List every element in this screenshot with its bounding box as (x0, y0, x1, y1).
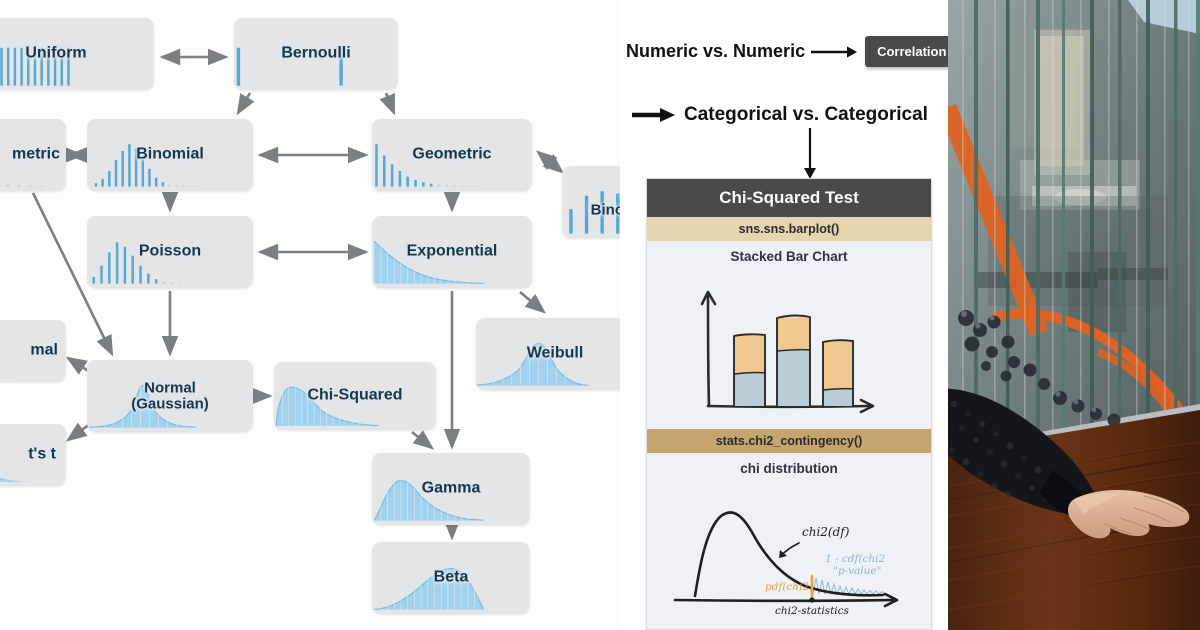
annot-tail-pvalue: "p-value" (833, 565, 881, 577)
dist-node-binomial[interactable]: Binomial (87, 119, 253, 191)
chi-distribution-title: chi distribution (647, 461, 931, 476)
card-title: Chi-Squared Test (647, 179, 931, 217)
correlation-test-chip[interactable]: Correlation Test (865, 36, 948, 67)
sparkline-beta (372, 565, 484, 610)
photo-panel (948, 0, 1200, 630)
annot-tail-cdf: 1 - cdf(chi2 (825, 553, 885, 565)
dist-node-poisson[interactable]: Poisson (87, 216, 253, 288)
stacked-bar-title: Stacked Bar Chart (647, 249, 931, 264)
dist-node-chi-squared[interactable]: Chi-Squared (274, 362, 436, 430)
arrow-right-icon (811, 44, 859, 60)
sparkline-chi-squared (274, 384, 379, 426)
screenshot-root: Uniform Bernoulli m (0, 0, 1200, 630)
numeric-vs-numeric-label: Numeric vs. Numeric (626, 41, 805, 62)
sparkline-exponential (372, 239, 484, 284)
sparkline-gamma (372, 476, 484, 521)
dist-node-uniform[interactable]: Uniform (0, 18, 154, 90)
dist-node-beta[interactable]: Beta (372, 542, 530, 614)
annot-chi2-df: chi2(df) (802, 525, 850, 539)
diagram-arrow-layer (0, 0, 640, 630)
dist-node-log-normal[interactable]: mal (0, 320, 66, 382)
categorical-vs-categorical-row: Categorical vs. Categorical (632, 104, 928, 126)
numeric-vs-numeric-row: Numeric vs. Numeric Correlation Test (626, 36, 948, 67)
chi-distribution-section: chi distribution (647, 453, 931, 629)
photo-illustration (948, 0, 1200, 630)
dist-node-geometric[interactable]: Geometric (372, 119, 532, 191)
sparkline-geometric (372, 142, 484, 187)
band-stats-chi2-contingency: stats.chi2_contingency() (647, 429, 931, 453)
dist-node-gamma[interactable]: Gamma (372, 453, 530, 525)
stacked-bar-section: Stacked Bar Chart (647, 241, 931, 429)
sparkline-bernoulli (234, 41, 346, 86)
sparkline-binomial (87, 142, 199, 187)
sparkline-poisson (87, 239, 199, 284)
annot-pdf-chi2: pdf(chi2) (765, 581, 813, 593)
dist-node-bernoulli[interactable]: Bernoulli (234, 18, 398, 90)
chi-squared-test-panel: Numeric vs. Numeric Correlation Test Cat… (620, 0, 948, 630)
annot-chi2-statistics: chi2-statistics (775, 605, 850, 617)
chi-squared-card[interactable]: Chi-Squared Test sns.sns.barplot() Stack… (646, 178, 932, 630)
dist-node-exponential[interactable]: Exponential (372, 216, 532, 288)
categorical-vs-categorical-label: Categorical vs. Categorical (684, 104, 928, 126)
stacked-bar-chart (647, 266, 931, 418)
dist-node-students-t[interactable]: t's t (0, 424, 66, 486)
dist-node-normal[interactable]: Normal (Gaussian) (87, 360, 253, 432)
sparkline-weibull (476, 341, 588, 386)
dist-node-weibull[interactable]: Weibull (476, 318, 634, 390)
sparkline-students-t (0, 444, 30, 482)
card-connector-arrow (798, 128, 822, 180)
arrow-right-bold-icon (632, 106, 676, 124)
sparkline-hypergeometric (0, 142, 46, 187)
distribution-diagram-panel: Uniform Bernoulli m (0, 0, 640, 630)
dist-node-hypergeometric[interactable]: metric (0, 119, 66, 191)
band-sns-barplot: sns.sns.barplot() (647, 217, 931, 241)
chi-distribution-chart: chi2(df) 1 - cdf(chi2 "p-value" pdf(chi2… (647, 478, 931, 618)
sparkline-uniform (0, 41, 70, 86)
sparkline-normal (87, 383, 199, 428)
sparkline-log-normal (0, 340, 30, 378)
